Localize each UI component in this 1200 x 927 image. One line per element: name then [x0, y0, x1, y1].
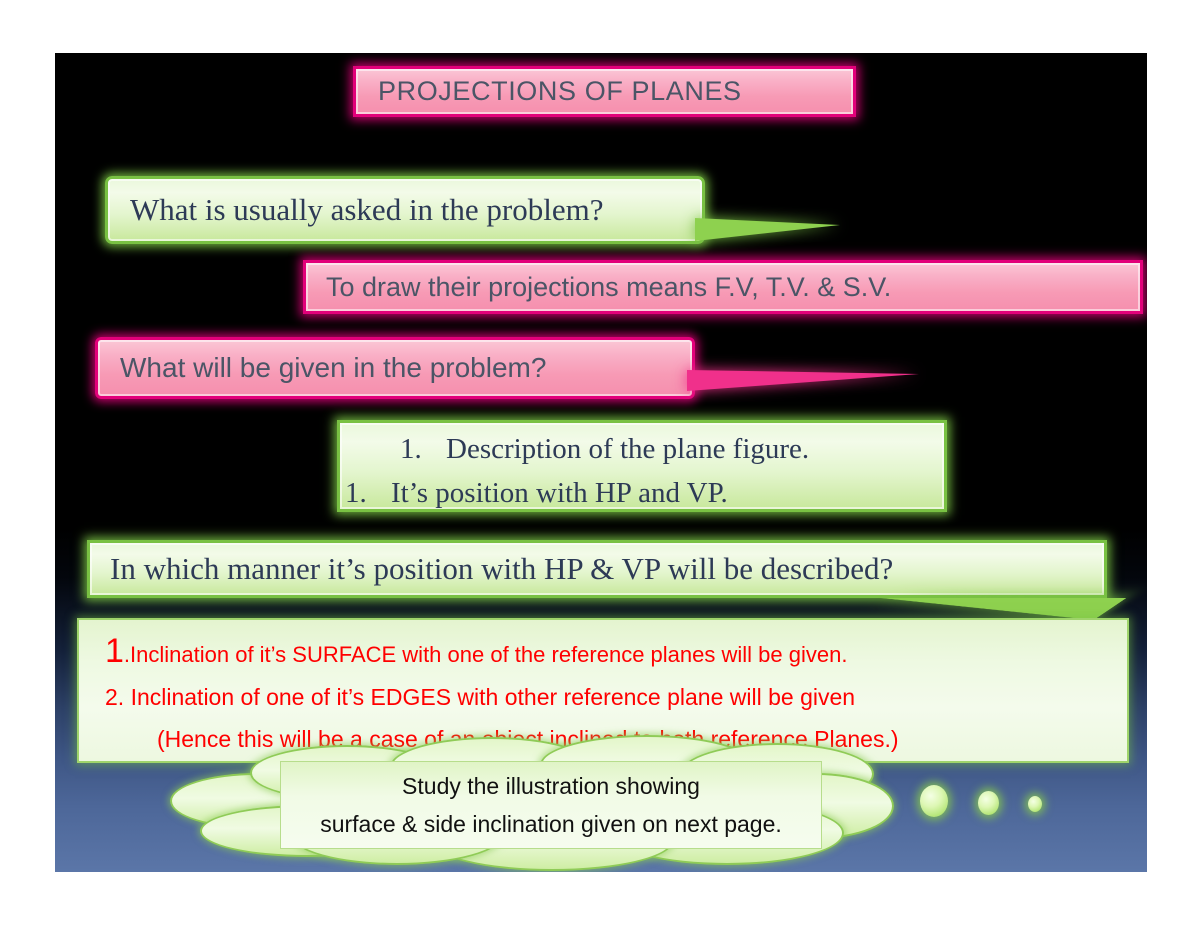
- list-item: 1.Description of the plane figure.: [340, 427, 944, 471]
- answer-3-line-1-text: .Inclination of it’s SURFACE with one of…: [124, 642, 848, 667]
- answer-2-list: 1.Description of the plane figure. 1.It’…: [337, 420, 947, 512]
- list-item-label: It’s position with HP and VP.: [391, 477, 728, 509]
- question-3-text: In which manner it’s position with HP & …: [110, 551, 893, 587]
- question-2-callout: What will be given in the problem?: [95, 337, 695, 399]
- thought-bubble-dot-large: [920, 785, 948, 817]
- question-2-text: What will be given in the problem?: [120, 352, 546, 384]
- list-item-number: 1.: [400, 427, 446, 471]
- question-1-text: What is usually asked in the problem?: [130, 192, 604, 228]
- answer-3-line-1-number: 1: [105, 632, 124, 670]
- list-item: 1.It’s position with HP and VP.: [340, 471, 944, 515]
- thought-cloud: Study the illustration showing surface &…: [140, 743, 950, 868]
- cloud-line-1: Study the illustration showing: [402, 767, 700, 805]
- question-1-callout: What is usually asked in the problem?: [105, 176, 705, 244]
- thought-bubble-dot-small: [1028, 796, 1042, 812]
- answer-1-banner: To draw their projections means F.V, T.V…: [303, 260, 1143, 314]
- question-1-callout-tail: [695, 218, 840, 241]
- answer-3-line-2: 2. Inclination of one of it’s EDGES with…: [105, 676, 1127, 718]
- question-2-callout-tail: [687, 370, 919, 391]
- cloud-text-box: Study the illustration showing surface &…: [280, 761, 822, 849]
- list-item-label: Description of the plane figure.: [446, 433, 809, 465]
- answer-1-text: To draw their projections means F.V, T.V…: [326, 272, 891, 303]
- question-3-callout-tail: [849, 598, 1127, 620]
- list-item-number: 1.: [345, 471, 391, 515]
- answer-3-line-1: 1.Inclination of it’s SURFACE with one o…: [105, 634, 1127, 676]
- thought-bubble-dot-medium: [978, 791, 999, 815]
- slide-canvas: PROJECTIONS OF PLANES What is usually as…: [55, 53, 1147, 872]
- slide-title: PROJECTIONS OF PLANES: [353, 66, 856, 117]
- cloud-line-2: surface & side inclination given on next…: [320, 805, 782, 843]
- slide-title-text: PROJECTIONS OF PLANES: [378, 76, 742, 107]
- question-3-callout: In which manner it’s position with HP & …: [87, 540, 1107, 598]
